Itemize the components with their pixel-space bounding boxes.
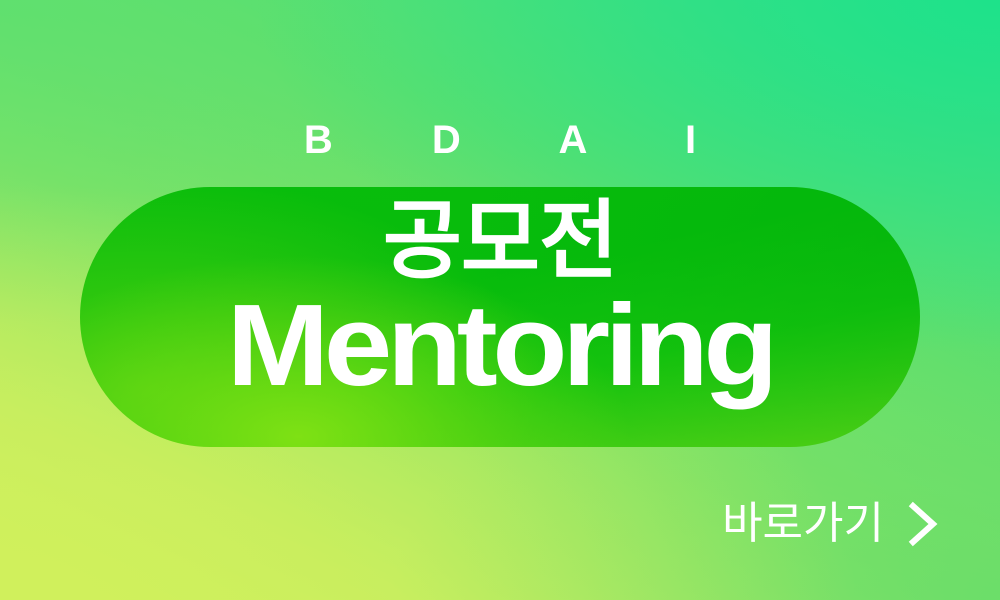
go-to-link[interactable]: 바로가기 — [722, 500, 940, 548]
brand-wordmark: B D A I — [0, 112, 1000, 168]
headline-pill-shape — [80, 187, 920, 447]
chevron-right-icon — [906, 501, 940, 547]
promo-banner[interactable]: B D A I 공모전 Mentoring 바로가기 — [0, 0, 1000, 600]
go-to-label: 바로가기 — [722, 500, 884, 548]
